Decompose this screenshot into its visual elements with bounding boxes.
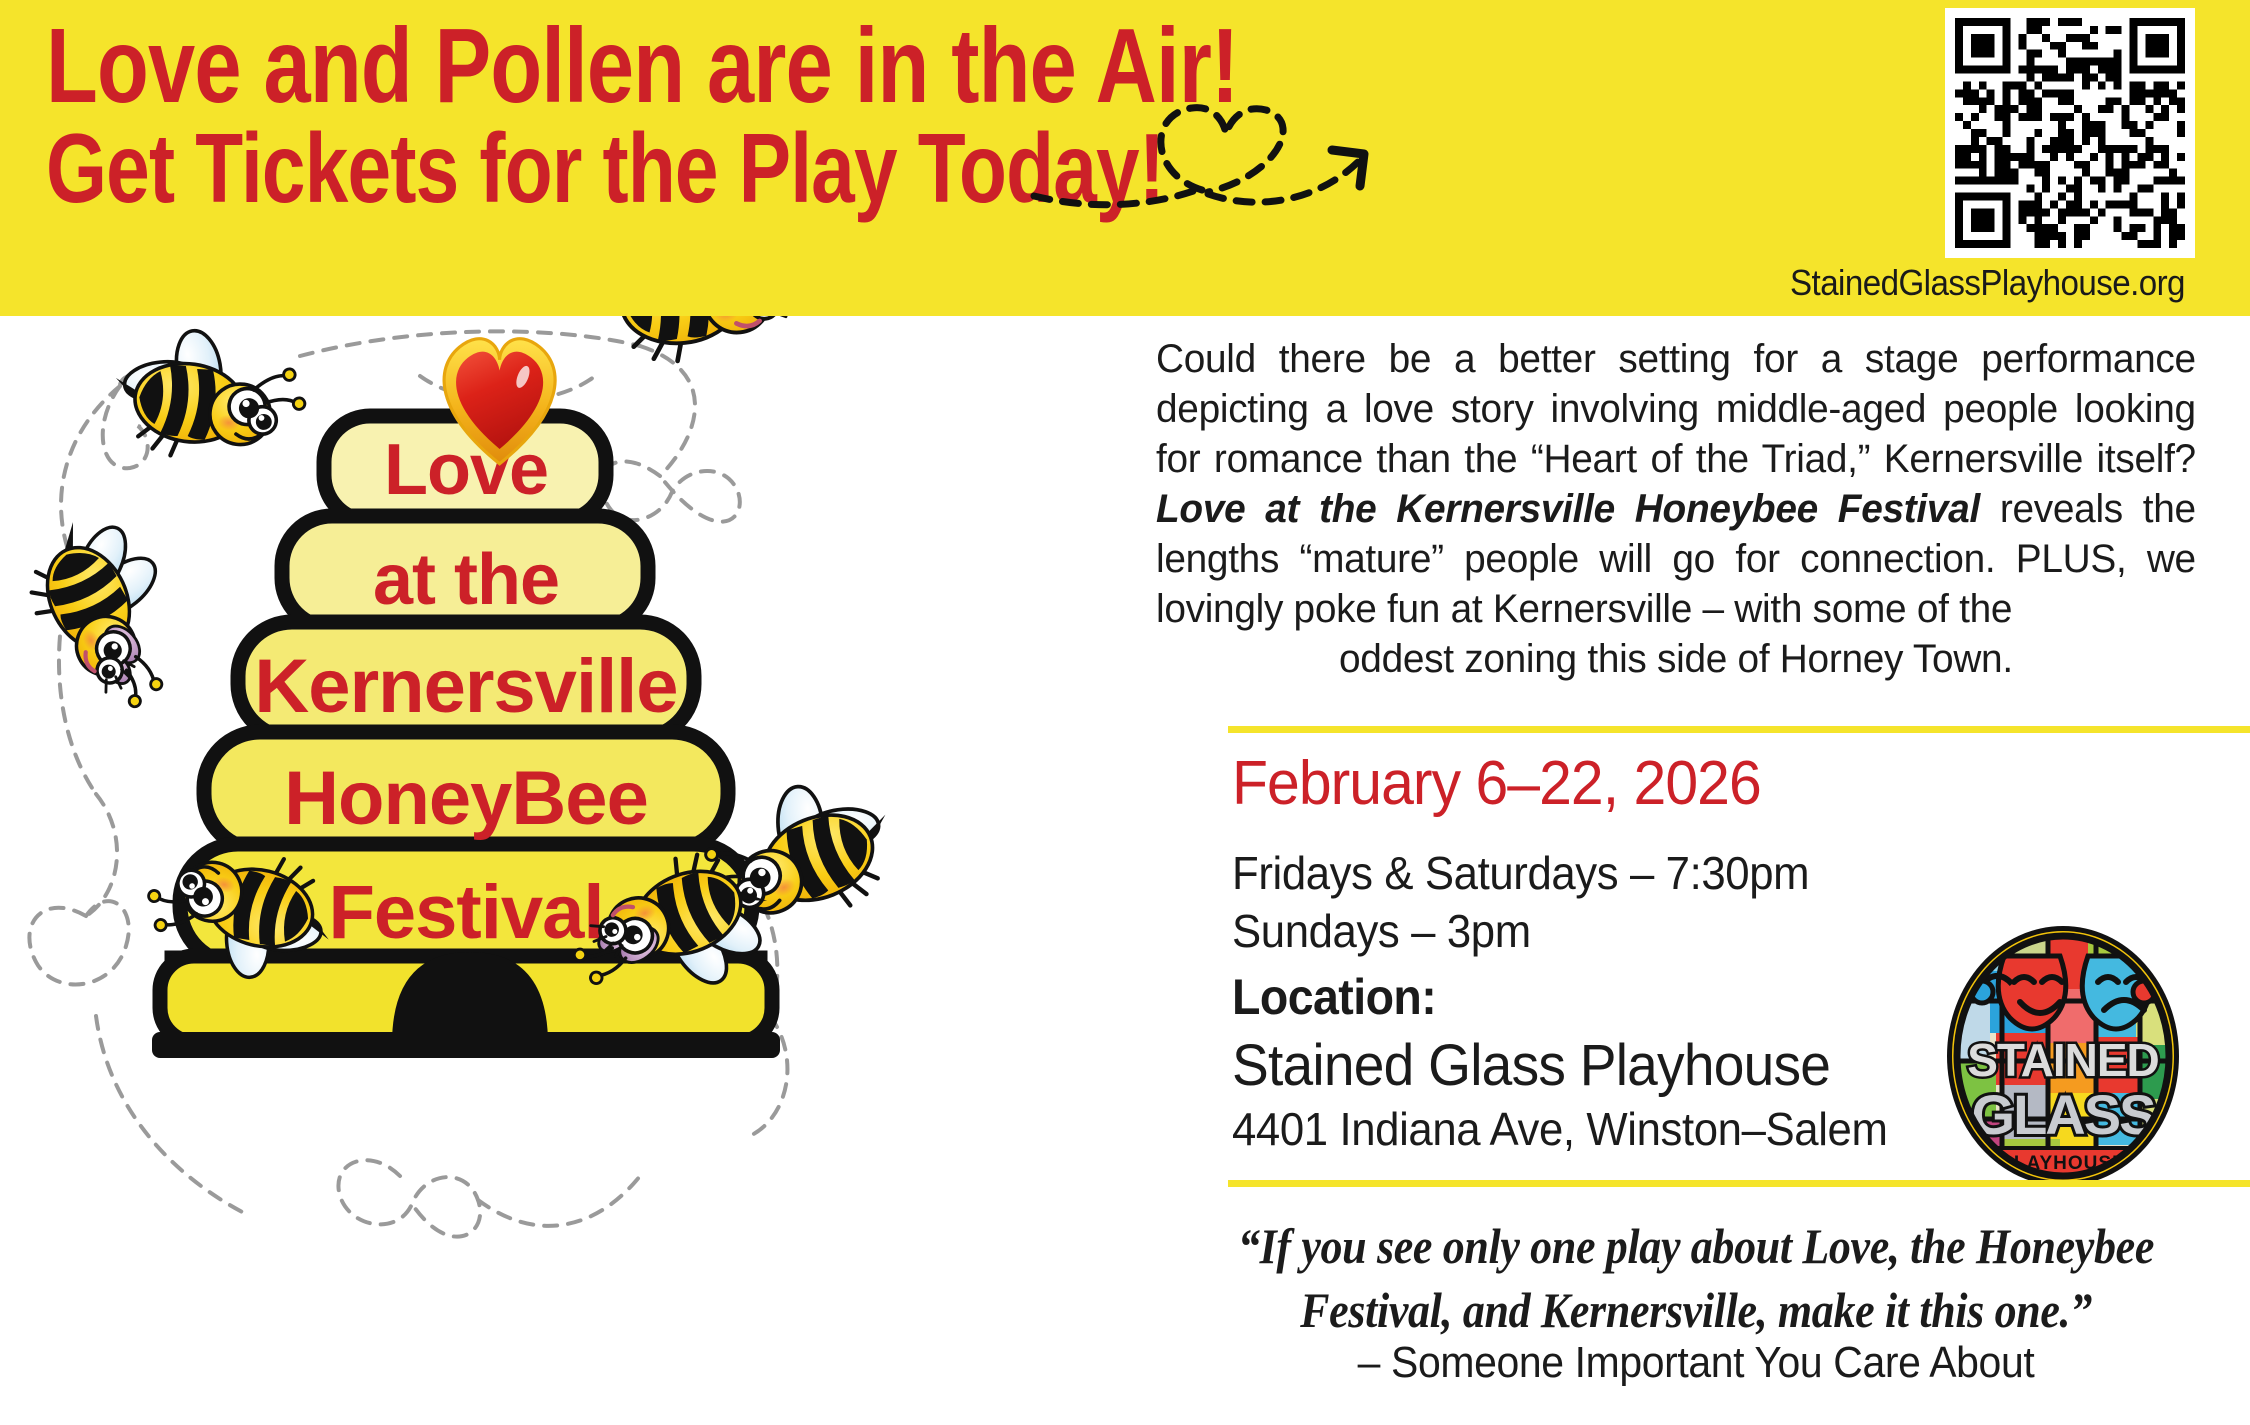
- stained-glass-playhouse-logo[interactable]: STAINED GLASS PLAYHOUSE: [1938, 926, 2188, 1186]
- right-content-column: Could there be a better setting for a st…: [1130, 316, 2250, 1425]
- quote-attribution: – Someone Important You Care About: [1203, 1338, 2189, 1388]
- qr-code[interactable]: [1945, 8, 2195, 258]
- venue-address: 4401 Indiana Ave, Winston–Salem: [1232, 1102, 1888, 1156]
- pull-quote: “If you see only one play about Love, th…: [1230, 1214, 2163, 1342]
- blurb-part-3: oddest zoning this side of Horney Town.: [1156, 634, 2196, 684]
- bee-icon-top-left: [106, 316, 313, 473]
- logo-word-glass: GLASS: [1972, 1083, 2156, 1146]
- divider-bottom: [1228, 1180, 2250, 1187]
- showtime-weekend: Fridays & Saturdays – 7:30pm: [1232, 844, 1809, 902]
- hive-tier-label-5: Festival: [328, 870, 603, 955]
- qr-code-matrix: [1955, 18, 2185, 248]
- logo-word-stained: STAINED: [1967, 1034, 2159, 1086]
- bee-icon-left-middle: [8, 497, 209, 728]
- venue-name: Stained Glass Playhouse: [1232, 1032, 1830, 1099]
- hive-tier-label-2: at the: [373, 540, 559, 620]
- website-url[interactable]: StainedGlassPlayhouse.org: [1790, 262, 2185, 304]
- hive-tier-label-3: Kernersville: [254, 644, 677, 729]
- beehive-artwork-panel: Love at the Kernersville HoneyBee Festiv…: [0, 316, 1130, 1425]
- location-label: Location:: [1232, 968, 1436, 1026]
- showtimes-list: Fridays & Saturdays – 7:30pm Sundays – 3…: [1232, 844, 1809, 960]
- blurb-part-1: Could there be a better setting for a st…: [1156, 337, 2196, 481]
- showtime-sunday: Sundays – 3pm: [1232, 902, 1809, 960]
- show-description: Could there be a better setting for a st…: [1156, 334, 2196, 684]
- divider-top: [1228, 726, 2250, 733]
- show-dates: February 6–22, 2026: [1232, 748, 1761, 819]
- play-title: Love at the Kernersville Honeybee Festiv…: [1156, 487, 1980, 531]
- hive-tier-label-4: HoneyBee: [284, 756, 648, 841]
- header-banner: Love and Pollen are in the Air! Get Tick…: [0, 0, 2250, 316]
- headline-line-2: Get Tickets for the Play Today!: [46, 116, 1164, 220]
- dashed-heart-arrow-icon: [1030, 78, 1430, 218]
